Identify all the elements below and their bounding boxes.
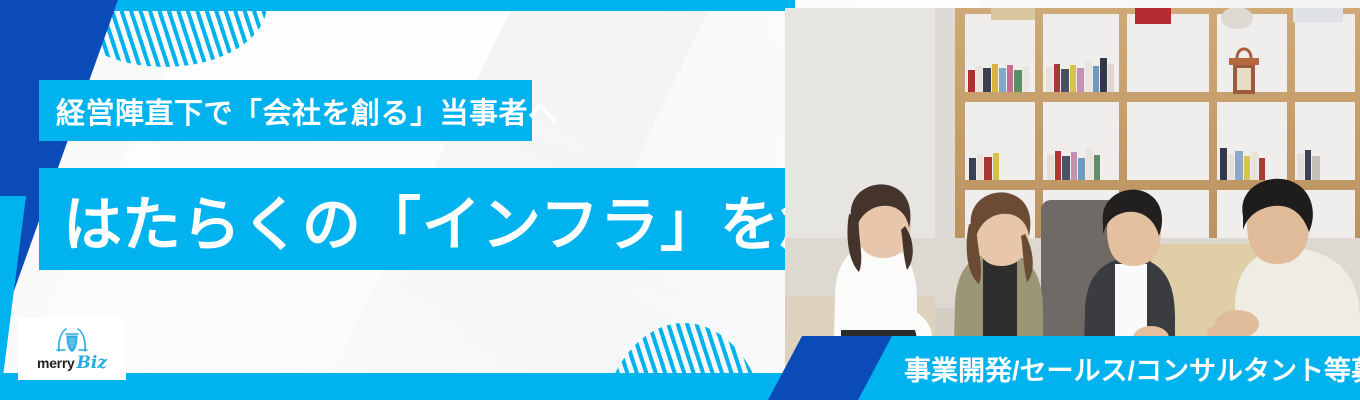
logo[interactable]: merry Biz xyxy=(18,318,126,380)
photo-illustration xyxy=(785,8,1360,374)
logo-word-primary: merry xyxy=(37,356,74,370)
main-headline-text: はたらくの「インフラ」を創る xyxy=(63,177,900,262)
cta-banner[interactable]: 事業開発/セールス/コンサルタント等募集中 xyxy=(858,336,1360,400)
cta-text: 事業開発/セールス/コンサルタント等募集中 xyxy=(904,349,1360,388)
recruitment-banner: 経営陣直下で「会社を創る」当事者へ はたらくの「インフラ」を創る merry B… xyxy=(0,0,1360,400)
merrybiz-shield-icon xyxy=(55,327,89,353)
logo-wordmark: merry Biz xyxy=(37,355,107,372)
subheadline-block: 経営陣直下で「会社を創る」当事者へ xyxy=(39,80,532,141)
main-headline-block: はたらくの「インフラ」を創る xyxy=(39,168,834,270)
logo-word-secondary: Biz xyxy=(76,355,106,372)
subheadline-text: 経営陣直下で「会社を創る」当事者へ xyxy=(56,90,558,132)
office-discussion-photo xyxy=(785,8,1360,374)
